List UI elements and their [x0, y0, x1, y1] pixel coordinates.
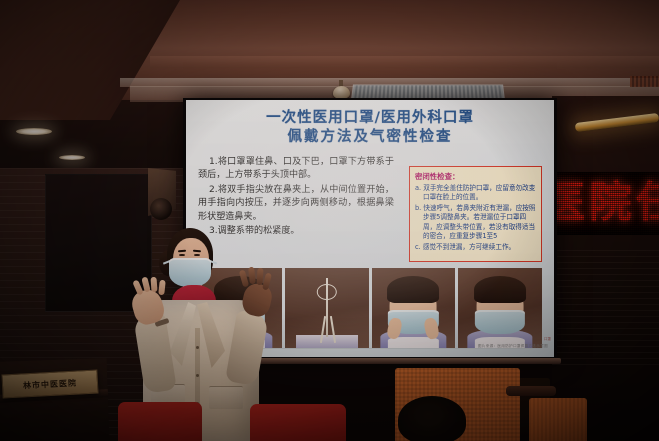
recessed-downlight-icon: [16, 128, 52, 135]
seal-check-heading: 密闭性检查：: [415, 171, 537, 182]
presenter-surgical-mask: [169, 258, 211, 287]
photo-collar: [296, 335, 358, 348]
speaker-cone-icon: [150, 198, 172, 220]
seal-check-item-marker: a.: [415, 184, 421, 192]
slide-photo-step-2: [285, 268, 369, 348]
seal-check-item-text: 快速呼气，若鼻夹附近有泄漏，应按照步骤5调整鼻夹。若泄漏位于口罩四周，应调整头带…: [423, 204, 536, 240]
seal-check-item-text: 双手完全盖住防护口罩，应留意勿改变口罩在脸上的位置。: [423, 184, 535, 201]
photo-hair: [474, 276, 526, 303]
photo-surgical-mask: [475, 310, 525, 334]
seal-check-item: a. 双手完全盖住防护口罩，应留意勿改变口罩在脸上的位置。: [415, 184, 537, 203]
seal-check-item-text: 感觉不到泄漏，方可继续工作。: [423, 243, 515, 251]
audience-member-silhouette: [398, 396, 466, 441]
seal-check-item-marker: b.: [415, 204, 421, 212]
seal-check-item: b. 快速呼气，若鼻夹附近有泄漏，应按照步骤5调整鼻夹。若泄漏位于口罩四周，应调…: [415, 204, 537, 241]
ceiling-beam: [150, 56, 659, 68]
slide-step-2: 2.将双手指尖放在鼻夹上，从中间位置开始，用手指向内按压，并逐步向两侧移动，根据…: [198, 184, 394, 224]
led-banner-sign: 医院任: [548, 172, 659, 235]
chair-armrest: [506, 386, 556, 396]
presenter-finger: [248, 267, 256, 285]
recessed-downlight-icon: [59, 155, 85, 160]
led-pixel-grid: [548, 172, 659, 235]
slide-photo-step-4: [458, 268, 542, 348]
slide-credit-text: 图片来源：医用防护口罩佩戴方法示意图: [478, 344, 548, 349]
presenter-coat-pocket: [209, 386, 243, 409]
slide-title: 一次性医用口罩/医用外科口罩 佩戴方法及气密性检查: [186, 109, 554, 147]
presenter-finger: [158, 280, 166, 296]
seal-check-callout-box: 密闭性检查： a. 双手完全盖住防护口罩，应留意勿改变口罩在脸上的位置。 b. …: [409, 166, 542, 262]
seal-check-item-marker: c.: [415, 243, 421, 251]
slide-photo-step-3: [372, 268, 456, 348]
slide-step-1: 1.将口罩罩住鼻、口及下巴，口罩下方带系于颈后，上方带系于头顶中部。: [198, 156, 394, 183]
front-row-red-chair: [250, 404, 346, 441]
orange-fabric-chair: [529, 398, 587, 441]
air-vent-secondary-icon: [630, 76, 659, 87]
seal-check-list: a. 双手完全盖住防护口罩，应留意勿改变口罩在脸上的位置。 b. 快速呼气，若鼻…: [415, 184, 537, 252]
seal-check-item: c. 感觉不到泄漏，方可继续工作。: [415, 243, 537, 252]
slide-steps-text: 1.将口罩罩住鼻、口及下巴，口罩下方带系于颈后，上方带系于头顶中部。 2.将双手…: [198, 156, 394, 239]
presenter-finger: [262, 273, 272, 291]
right-wall-slats: [552, 250, 659, 370]
photo-hair: [387, 276, 439, 303]
podium-nameplate: 林市中医医院: [1, 370, 98, 399]
slide-title-line-2: 佩戴方法及气密性检查: [186, 128, 554, 147]
slide-corner-mark: 口罩: [544, 337, 551, 342]
presenter-finger: [150, 277, 157, 292]
lecture-hall-photo: 医院任 一次性医用口罩/医用外科口罩 佩戴方法及气密性检查 1.将口罩罩住鼻、口…: [0, 0, 659, 441]
podium-nameplate-text: 林市中医医院: [23, 377, 78, 391]
front-row-red-chair: [118, 402, 202, 441]
slide-title-line-1: 一次性医用口罩/医用外科口罩: [186, 109, 554, 128]
